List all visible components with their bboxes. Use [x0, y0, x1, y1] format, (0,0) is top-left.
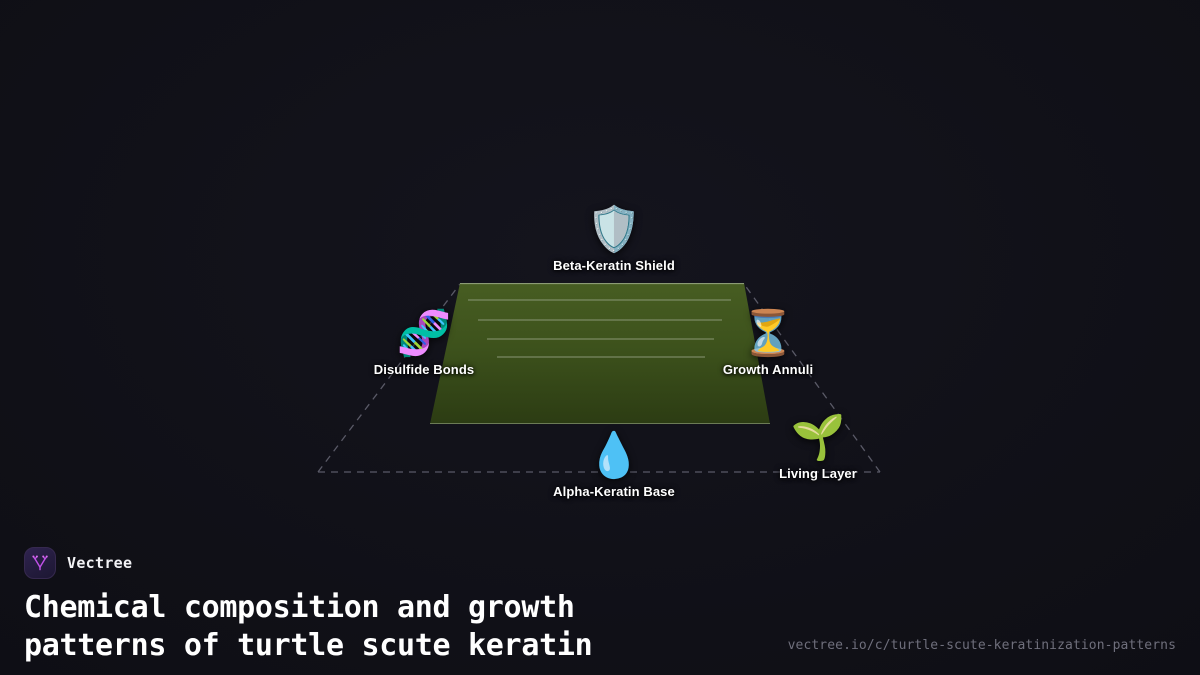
page-title-line-2: patterns of turtle scute keratin — [24, 627, 784, 665]
node-living-layer[interactable]: 🌱 Living Layer — [703, 414, 933, 481]
node-disulfide-bonds[interactable]: 🧬 Disulfide Bonds — [309, 310, 539, 377]
keratin-layer-diagram: 🛡️ Beta-Keratin Shield 🧬 Disulfide Bonds… — [0, 0, 1200, 530]
node-label: Disulfide Bonds — [374, 362, 474, 377]
vectree-glyph — [30, 553, 50, 573]
node-growth-annuli[interactable]: ⏳ Growth Annuli — [653, 310, 883, 377]
node-label: Living Layer — [779, 466, 857, 481]
node-label: Growth Annuli — [723, 362, 813, 377]
vectree-logo-icon — [24, 547, 56, 579]
brand[interactable]: Vectree — [24, 546, 1176, 580]
slide-canvas: 🛡️ Beta-Keratin Shield 🧬 Disulfide Bonds… — [0, 0, 1200, 675]
page-title-line-1: Chemical composition and growth — [24, 589, 784, 627]
footer: Vectree Chemical composition and growth … — [0, 530, 1200, 675]
seedling-icon: 🌱 — [791, 414, 846, 462]
dna-icon: 🧬 — [397, 310, 452, 358]
node-label: Beta-Keratin Shield — [553, 258, 675, 273]
node-alpha-keratin-base[interactable]: 💧 Alpha-Keratin Base — [499, 432, 729, 499]
brand-name: Vectree — [67, 554, 132, 572]
node-label: Alpha-Keratin Base — [553, 484, 675, 499]
page-title: Chemical composition and growth patterns… — [24, 589, 784, 665]
source-url[interactable]: vectree.io/c/turtle-scute-keratinization… — [788, 638, 1176, 653]
hourglass-icon: ⏳ — [741, 310, 796, 358]
node-beta-keratin-shield[interactable]: 🛡️ Beta-Keratin Shield — [499, 206, 729, 273]
droplet-icon: 💧 — [587, 432, 642, 480]
shield-icon: 🛡️ — [587, 206, 642, 254]
